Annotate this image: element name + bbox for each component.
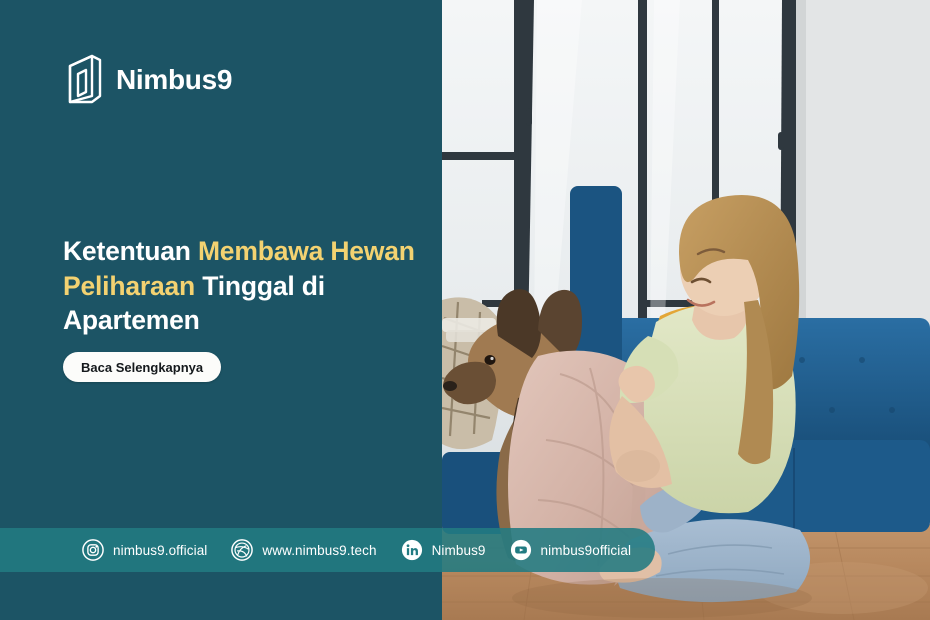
headline-part-1: Ketentuan: [63, 236, 198, 266]
youtube-icon: [510, 539, 532, 561]
brand-name: Nimbus9: [116, 66, 232, 94]
social-link-linkedin[interactable]: Nimbus9: [401, 539, 486, 561]
social-label-linkedin: Nimbus9: [432, 543, 486, 558]
page-title: Ketentuan Membawa Hewan Peliharaan Tingg…: [63, 234, 423, 338]
instagram-icon: [82, 539, 104, 561]
social-label-website: www.nimbus9.tech: [262, 543, 376, 558]
read-more-button[interactable]: Baca Selengkapnya: [63, 352, 221, 382]
social-links-bar: nimbus9.official www.nimbus9.tech Nimbus…: [0, 528, 655, 572]
social-link-website[interactable]: www.nimbus9.tech: [231, 539, 376, 561]
social-label-youtube: nimbus9official: [541, 543, 632, 558]
brand-logo[interactable]: Nimbus9: [62, 52, 232, 108]
hero-photo: [442, 0, 930, 620]
isometric-building-icon: [62, 52, 104, 108]
globe-icon: [231, 539, 253, 561]
hero-photo-illustration: [442, 0, 930, 620]
social-label-instagram: nimbus9.official: [113, 543, 207, 558]
linkedin-icon: [401, 539, 423, 561]
social-link-youtube[interactable]: nimbus9official: [510, 539, 632, 561]
social-link-instagram[interactable]: nimbus9.official: [82, 539, 207, 561]
promo-banner: Nimbus9 Ketentuan Membawa Hewan Pelihara…: [0, 0, 930, 620]
